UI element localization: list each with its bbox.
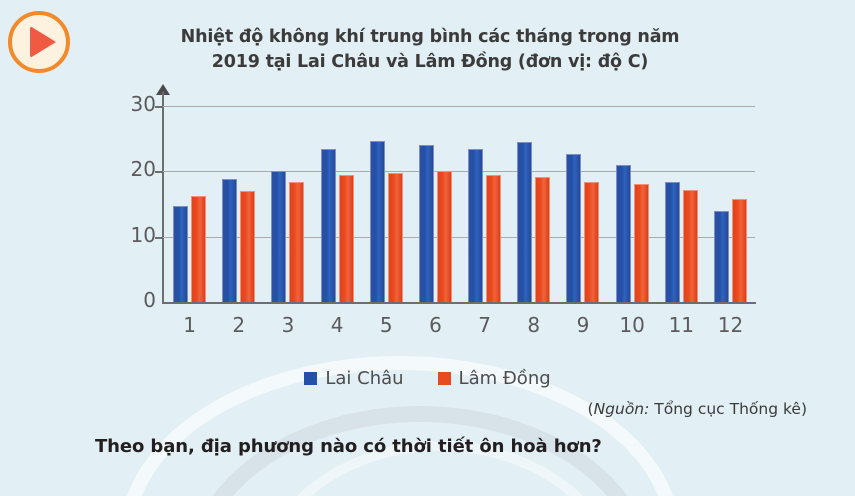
bar-lam-dong-month-7 [486, 175, 501, 302]
bar-lam-dong-month-1 [191, 196, 206, 302]
bar-lam-dong-month-12 [732, 199, 747, 302]
y-tick-label-30: 30 [110, 92, 156, 116]
bar-group-month-12 [706, 106, 755, 302]
bar-group-month-7 [460, 106, 509, 302]
y-tick-label-10: 10 [110, 223, 156, 247]
x-tick-label-10: 10 [608, 313, 657, 337]
y-tick-label-20: 20 [110, 157, 156, 181]
bar-group-month-10 [608, 106, 657, 302]
bar-lai-chau-month-9 [566, 154, 581, 302]
chart-plot: 0102030 123456789101112 [0, 0, 855, 496]
legend-item-lam-dong[interactable]: Lâm Đồng [438, 368, 551, 389]
y-tick-label-0: 0 [110, 288, 156, 312]
bar-lam-dong-month-5 [388, 173, 403, 302]
x-tick-label-11: 11 [657, 313, 706, 337]
bar-lam-dong-month-3 [289, 182, 304, 302]
bar-group-month-5 [362, 106, 411, 302]
bar-lam-dong-month-8 [535, 177, 550, 302]
bar-lai-chau-month-12 [714, 211, 729, 302]
legend-swatch-icon [304, 372, 317, 385]
x-tick-label-7: 7 [460, 313, 509, 337]
bar-series-container [165, 106, 755, 302]
x-axis-line [162, 302, 756, 304]
bar-lai-chau-month-2 [222, 179, 237, 302]
y-tick-mark-20 [155, 171, 163, 173]
bar-lai-chau-month-3 [271, 171, 286, 302]
x-tick-label-4: 4 [313, 313, 362, 337]
bar-lai-chau-month-6 [419, 145, 434, 302]
bar-group-month-2 [214, 106, 263, 302]
legend-label: Lâm Đồng [459, 368, 551, 389]
x-tick-label-6: 6 [411, 313, 460, 337]
bar-lam-dong-month-11 [683, 190, 698, 302]
source-value: Tổng cục Thống kê) [649, 400, 807, 418]
x-axis-ticks: 123456789101112 [165, 313, 755, 337]
bar-lai-chau-month-5 [370, 141, 385, 302]
slide-page: Nhiệt độ không khí trung bình các tháng … [0, 0, 855, 496]
bar-lai-chau-month-11 [665, 182, 680, 302]
bar-lai-chau-month-7 [468, 149, 483, 302]
bar-group-month-4 [313, 106, 362, 302]
x-tick-label-8: 8 [509, 313, 558, 337]
x-tick-label-3: 3 [263, 313, 312, 337]
bar-group-month-6 [411, 106, 460, 302]
legend-label: Lai Châu [325, 368, 403, 389]
y-axis-ticks: 0102030 [100, 0, 156, 496]
x-tick-label-1: 1 [165, 313, 214, 337]
bar-lai-chau-month-1 [173, 206, 188, 302]
x-tick-label-2: 2 [214, 313, 263, 337]
bar-lam-dong-month-9 [584, 182, 599, 302]
question-text: Theo bạn, địa phương nào có thời tiết ôn… [95, 436, 602, 457]
x-tick-label-5: 5 [362, 313, 411, 337]
bar-lam-dong-month-4 [339, 175, 354, 302]
bar-group-month-9 [558, 106, 607, 302]
legend-item-lai-chau[interactable]: Lai Châu [304, 368, 403, 389]
legend-swatch-icon [438, 372, 451, 385]
bar-lai-chau-month-8 [517, 142, 532, 302]
bar-lam-dong-month-6 [437, 171, 452, 302]
bar-lai-chau-month-4 [321, 149, 336, 302]
bar-group-month-11 [657, 106, 706, 302]
chart-legend: Lai ChâuLâm Đồng [0, 368, 855, 389]
x-tick-label-12: 12 [706, 313, 755, 337]
x-tick-label-9: 9 [558, 313, 607, 337]
bar-lam-dong-month-2 [240, 191, 255, 302]
bar-lam-dong-month-10 [634, 184, 649, 302]
source-note: (Nguồn: Tổng cục Thống kê) [588, 400, 808, 418]
bar-lai-chau-month-10 [616, 165, 631, 302]
bar-group-month-8 [509, 106, 558, 302]
y-tick-mark-30 [155, 106, 163, 108]
y-tick-mark-10 [155, 237, 163, 239]
source-label: Nguồn: [594, 400, 650, 418]
bar-group-month-1 [165, 106, 214, 302]
bar-group-month-3 [263, 106, 312, 302]
